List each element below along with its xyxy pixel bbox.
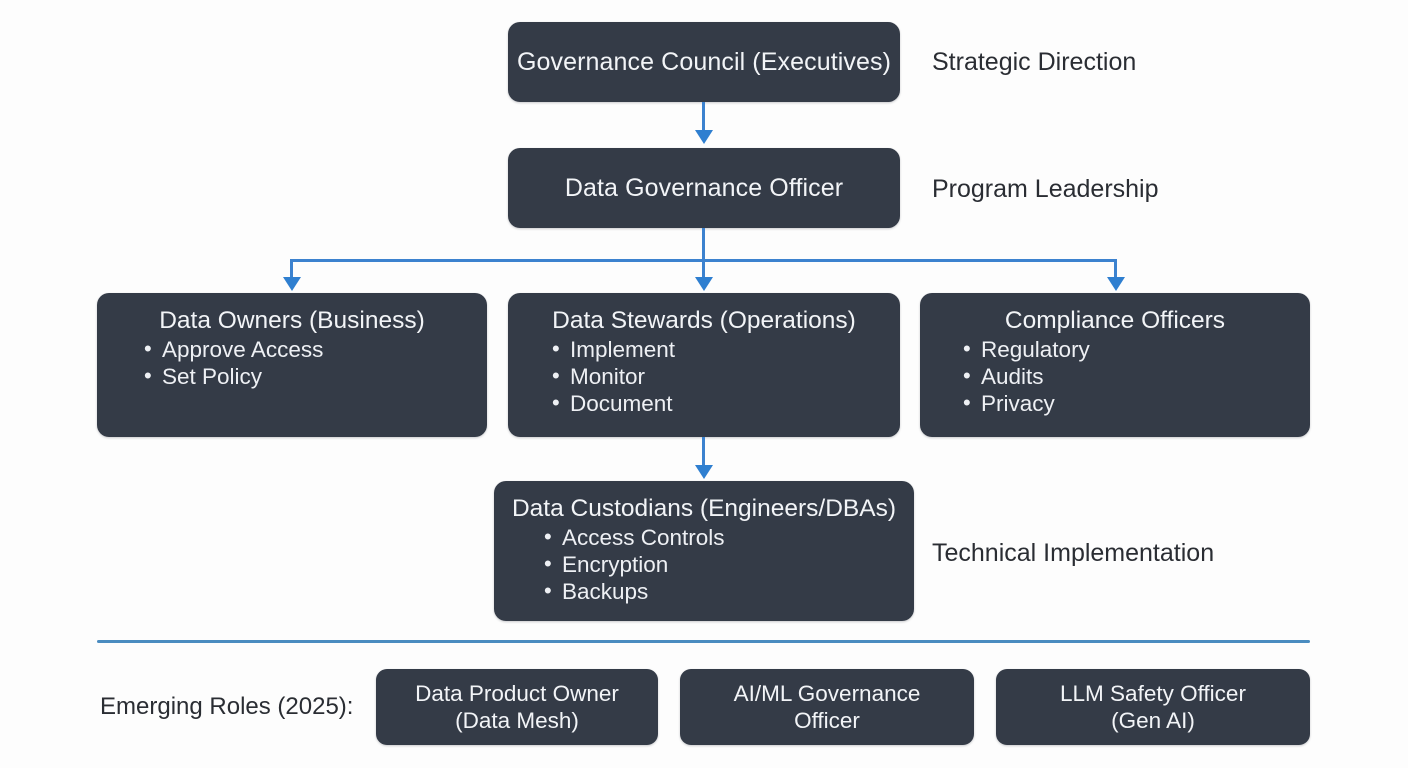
arrow-head-to-officer	[695, 130, 713, 144]
node-data-stewards[interactable]: Data Stewards (Operations) Implement Mon…	[508, 293, 900, 437]
pill-line-2: (Data Mesh)	[455, 707, 579, 734]
node-title: Data Owners (Business)	[97, 307, 487, 335]
pill-line-1: Data Product Owner	[415, 680, 619, 707]
bullet-list: Approve Access Set Policy	[144, 336, 487, 390]
bullet-item: Set Policy	[144, 363, 487, 390]
pill-data-product-owner[interactable]: Data Product Owner (Data Mesh)	[376, 669, 658, 745]
pill-line-1: LLM Safety Officer	[1060, 680, 1246, 707]
bullet-item: Encryption	[544, 551, 914, 578]
bullet-item: Audits	[963, 363, 1310, 390]
emerging-roles-label: Emerging Roles (2025):	[100, 693, 353, 721]
node-title: Data Custodians (Engineers/DBAs)	[494, 495, 914, 523]
section-divider	[97, 640, 1310, 643]
bullet-list: Implement Monitor Document	[552, 336, 900, 417]
node-title: Data Stewards (Operations)	[508, 307, 900, 335]
node-title: Data Governance Officer	[565, 174, 843, 203]
pill-line-2: Officer	[794, 707, 860, 734]
bullet-item: Monitor	[552, 363, 900, 390]
bullet-item: Document	[552, 390, 900, 417]
node-compliance-officers[interactable]: Compliance Officers Regulatory Audits Pr…	[920, 293, 1310, 437]
node-data-owners[interactable]: Data Owners (Business) Approve Access Se…	[97, 293, 487, 437]
arrow-head-to-compliance	[1107, 277, 1125, 291]
tier-label-strategic-direction: Strategic Direction	[932, 48, 1136, 77]
pill-ai-ml-governance-officer[interactable]: AI/ML Governance Officer	[680, 669, 974, 745]
node-title: Compliance Officers	[920, 307, 1310, 335]
bullet-item: Regulatory	[963, 336, 1310, 363]
bullet-item: Privacy	[963, 390, 1310, 417]
bullet-list: Regulatory Audits Privacy	[963, 336, 1310, 417]
bullet-item: Approve Access	[144, 336, 487, 363]
org-chart-canvas: Governance Council (Executives) Strategi…	[0, 0, 1408, 768]
tier-label-program-leadership: Program Leadership	[932, 175, 1159, 204]
arrow-head-to-custodians	[695, 465, 713, 479]
bullet-list: Access Controls Encryption Backups	[544, 524, 914, 605]
arrow-head-to-stewards	[695, 277, 713, 291]
connector-officer-stem	[702, 228, 705, 262]
bullet-item: Implement	[552, 336, 900, 363]
pill-line-2: (Gen AI)	[1111, 707, 1195, 734]
tier-label-technical-implementation: Technical Implementation	[932, 539, 1214, 568]
bullet-item: Backups	[544, 578, 914, 605]
node-governance-council[interactable]: Governance Council (Executives)	[508, 22, 900, 102]
node-data-custodians[interactable]: Data Custodians (Engineers/DBAs) Access …	[494, 481, 914, 621]
pill-llm-safety-officer[interactable]: LLM Safety Officer (Gen AI)	[996, 669, 1310, 745]
node-title: Governance Council (Executives)	[517, 48, 891, 77]
pill-line-1: AI/ML Governance	[734, 680, 921, 707]
bullet-item: Access Controls	[544, 524, 914, 551]
arrow-head-to-owners	[283, 277, 301, 291]
node-data-governance-officer[interactable]: Data Governance Officer	[508, 148, 900, 228]
